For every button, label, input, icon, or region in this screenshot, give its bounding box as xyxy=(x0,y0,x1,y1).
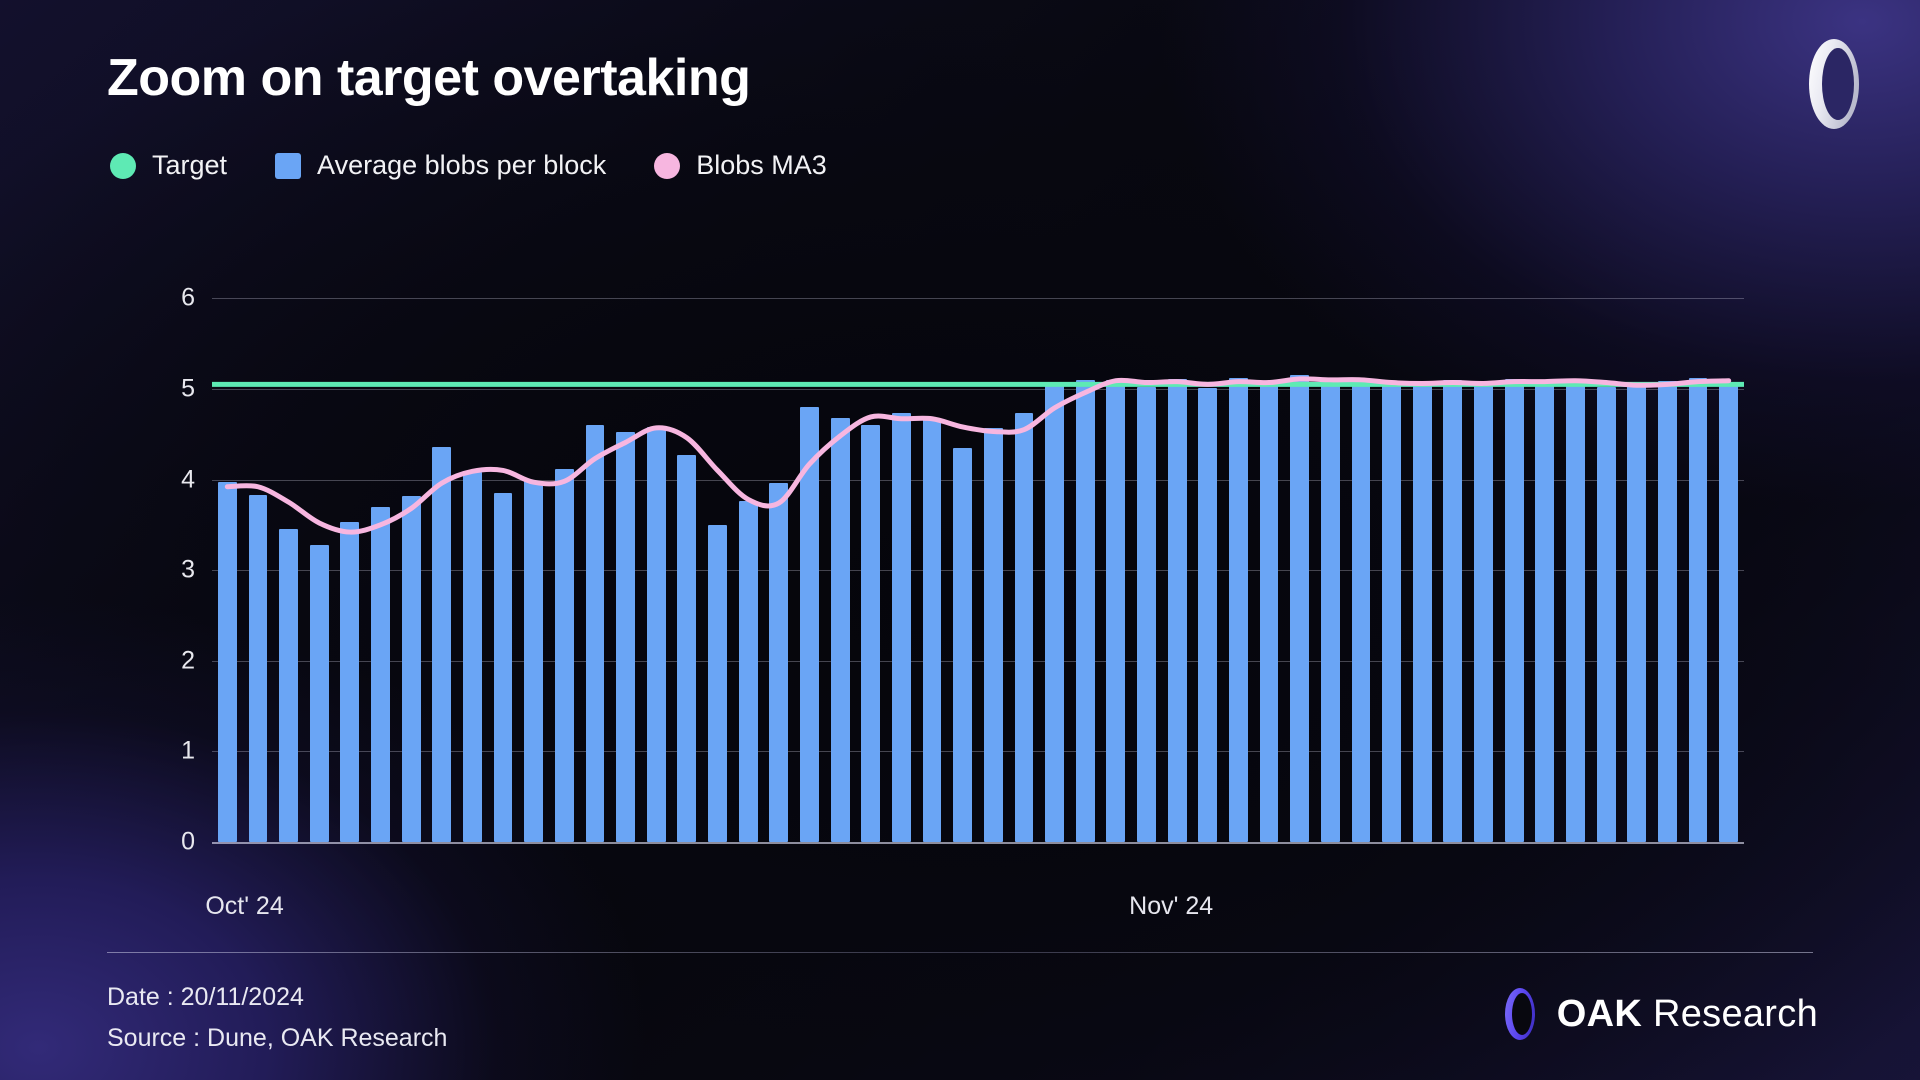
y-tick-5: 5 xyxy=(125,374,195,403)
research-light: Research xyxy=(1642,993,1818,1035)
legend-item-average-blobs[interactable]: Average blobs per block xyxy=(275,150,606,181)
plot-area xyxy=(212,262,1744,842)
legend-average-blobs-square-icon xyxy=(275,153,301,179)
legend-target-label: Target xyxy=(152,150,227,181)
y-tick-4: 4 xyxy=(125,465,195,494)
page-title: Zoom on target overtaking xyxy=(107,48,750,108)
legend-item-blobs-ma3[interactable]: Blobs MA3 xyxy=(654,150,827,181)
legend-blobs-ma3-dot-icon xyxy=(654,153,680,179)
y-tick-1: 1 xyxy=(125,737,195,766)
x-axis-label-nov: Nov' 24 xyxy=(1129,892,1213,921)
footer-divider xyxy=(107,952,1813,953)
legend-average-blobs-label: Average blobs per block xyxy=(317,150,606,181)
legend-item-target[interactable]: Target xyxy=(110,150,227,181)
gridline-0 xyxy=(212,842,1744,844)
ma3-line xyxy=(227,379,1728,532)
footer-source: Source : Dune, OAK Research xyxy=(107,1024,447,1053)
line-series-overlay xyxy=(212,262,1744,842)
oak-research-wordmark: OAK Research xyxy=(1557,993,1818,1036)
y-tick-6: 6 xyxy=(125,284,195,313)
y-tick-0: 0 xyxy=(125,828,195,857)
footer-date: Date : 20/11/2024 xyxy=(107,983,304,1012)
y-axis-labels: 0123456 xyxy=(125,262,195,842)
chart-legend: Target Average blobs per block Blobs MA3 xyxy=(110,150,827,181)
y-tick-2: 2 xyxy=(125,646,195,675)
chart-canvas: Zoom on target overtaking Target Average… xyxy=(0,0,1920,1080)
oak-ring-logo-icon xyxy=(1495,986,1541,1042)
legend-blobs-ma3-label: Blobs MA3 xyxy=(696,150,827,181)
legend-target-dot-icon xyxy=(110,153,136,179)
oak-ring-icon xyxy=(1792,36,1866,132)
y-tick-3: 3 xyxy=(125,556,195,585)
oak-research-logo: OAK Research xyxy=(1495,986,1818,1042)
oak-bold: OAK xyxy=(1557,993,1642,1035)
x-axis-label-oct: Oct' 24 xyxy=(205,892,283,921)
